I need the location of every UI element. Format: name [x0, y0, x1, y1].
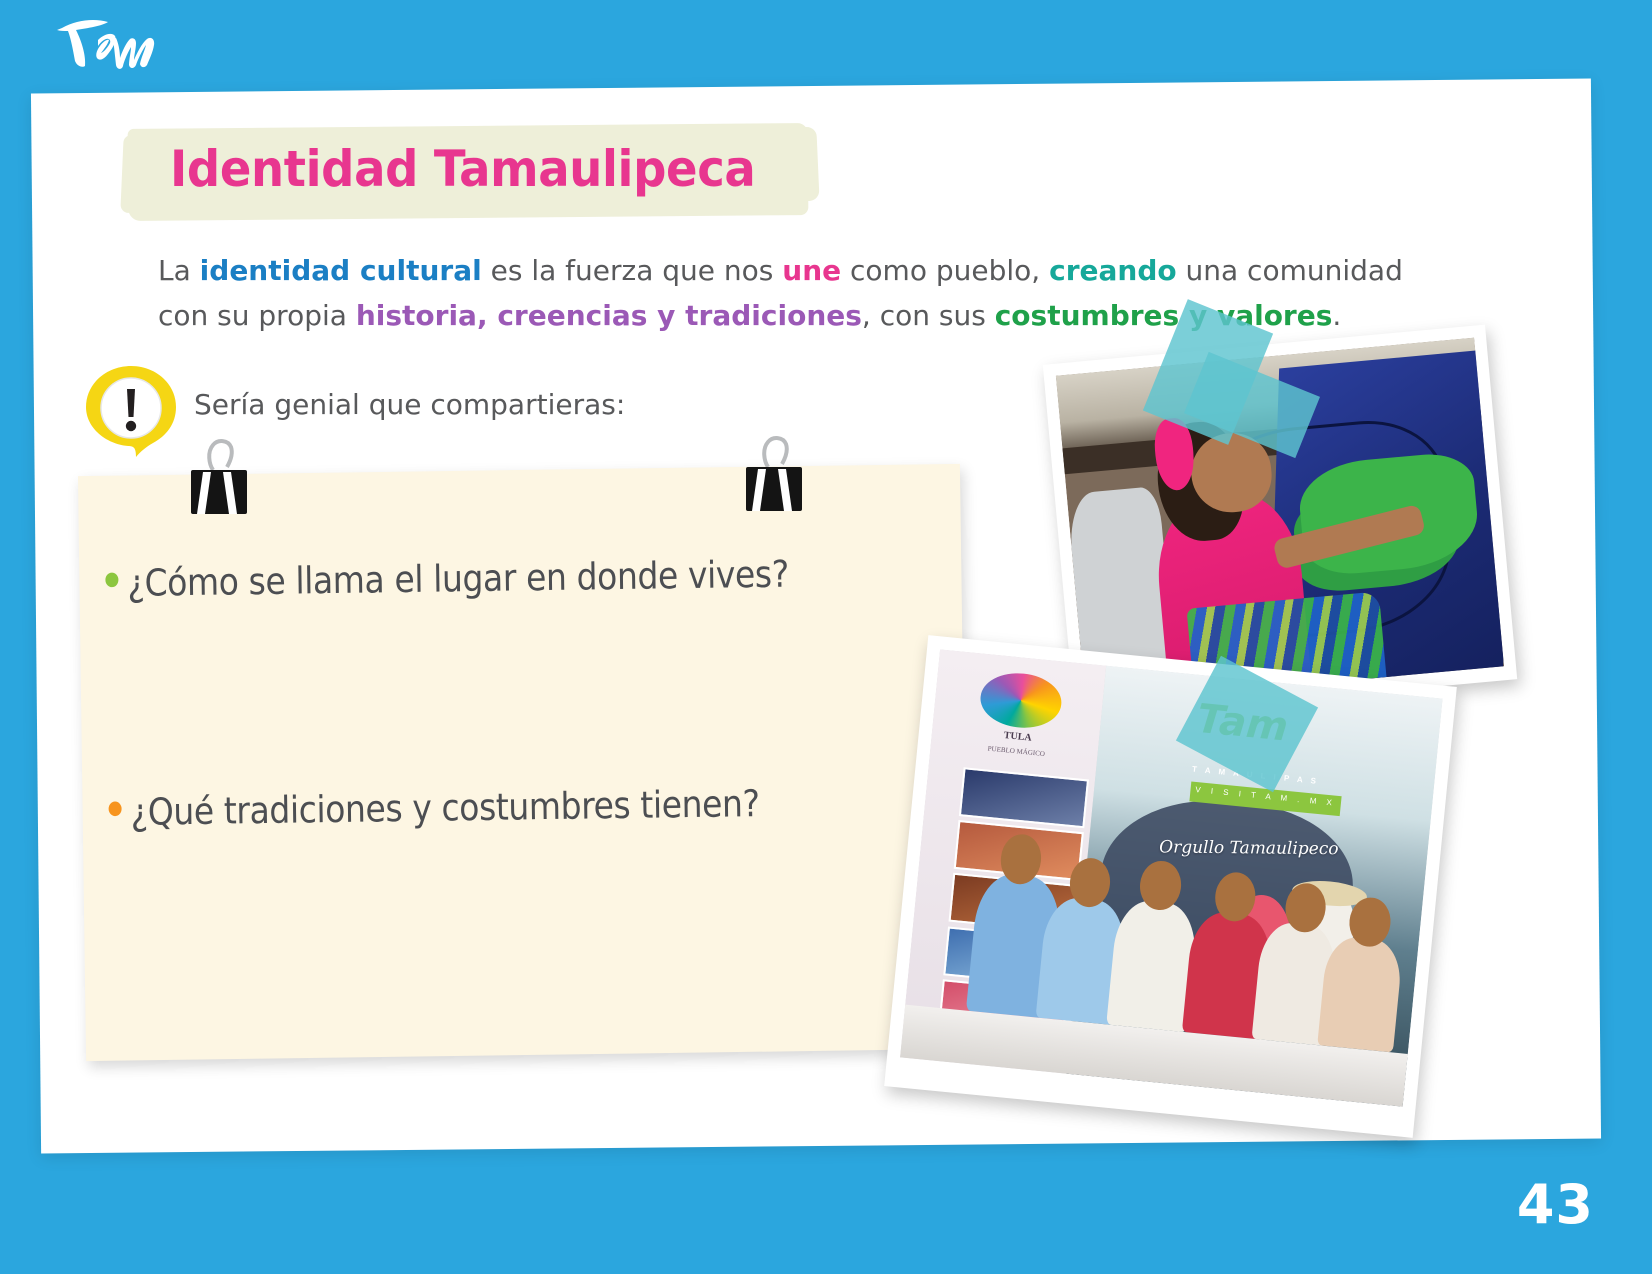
page-root: Identidad Tamaulipeca La identidad cultu…	[0, 0, 1652, 1274]
note-card: ¿Cómo se llama el lugar en donde vives? …	[78, 464, 968, 1061]
page-title-wrap: Identidad Tamaulipeca	[128, 126, 808, 218]
callout: Sería genial que compartieras:	[84, 364, 684, 464]
intro-text-3: como pueblo,	[841, 254, 1049, 287]
intro-emphasis-creando: creando	[1049, 254, 1177, 287]
bullet-green-icon	[105, 572, 118, 587]
binder-clip-right-icon	[738, 427, 810, 513]
page-number: 43	[1517, 1173, 1594, 1236]
intro-emphasis-une: une	[782, 254, 841, 287]
intro-emphasis-costumbres-valores: costumbres y valores	[995, 299, 1333, 332]
intro-emphasis-identidad-cultural: identidad cultural	[200, 254, 482, 287]
intro-emphasis-historia-creencias-tradiciones: historia, creencias y tradiciones	[356, 299, 862, 332]
intro-text-5: , con sus	[862, 299, 995, 332]
tam-logo-icon	[42, 8, 182, 80]
callout-text: Sería genial que compartieras:	[194, 388, 625, 421]
exclamation-bubble-icon	[84, 364, 178, 458]
binder-clip-left-icon	[183, 430, 255, 516]
booth-orgullo-text: Orgullo Tamaulipeco	[1159, 837, 1381, 859]
note-question-1: ¿Cómo se llama el lugar en donde vives?	[105, 552, 789, 605]
note-question-2: ¿Qué tradiciones y costumbres tienen?	[108, 781, 760, 834]
photo-tourism-booth-image: TULA PUEBLO MÁGICO Tam T A M A U L I P A…	[900, 649, 1443, 1106]
intro-text-2: es la fuerza que nos	[482, 254, 783, 287]
note-question-2-text: ¿Qué tradiciones y costumbres tienen?	[130, 781, 760, 833]
intro-text-1: La	[158, 254, 200, 287]
photo-tourism-booth: TULA PUEBLO MÁGICO Tam T A M A U L I P A…	[884, 635, 1457, 1138]
intro-text-6: .	[1332, 299, 1341, 332]
note-question-1-text: ¿Cómo se llama el lugar en donde vives?	[127, 552, 789, 605]
page-title: Identidad Tamaulipeca	[170, 140, 755, 198]
bullet-orange-icon	[109, 801, 122, 816]
